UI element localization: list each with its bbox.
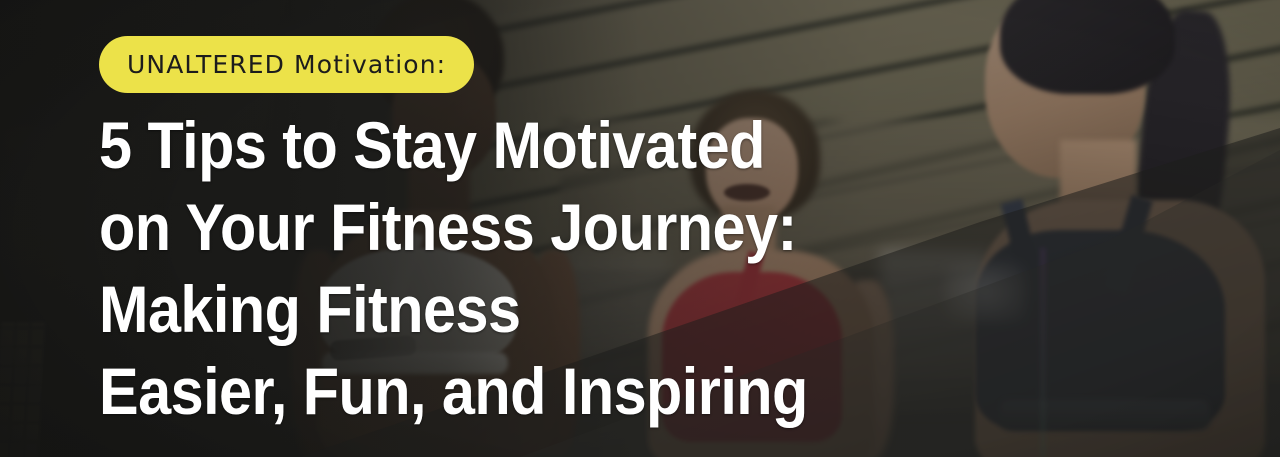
headline-line-4: Easier, Fun, and Inspiring [99, 350, 963, 432]
headline-block: 5 Tips to Stay Motivated on Your Fitness… [99, 104, 1059, 432]
banner-content: UNALTERED Motivation: 5 Tips to Stay Mot… [0, 0, 1280, 457]
motivation-hero-banner: UNALTERED Motivation: 5 Tips to Stay Mot… [0, 0, 1280, 457]
headline-line-2: on Your Fitness Journey: [99, 186, 963, 268]
headline-line-1: 5 Tips to Stay Motivated [99, 104, 963, 186]
headline-line-3: Making Fitness [99, 268, 963, 350]
category-badge: UNALTERED Motivation: [99, 36, 474, 93]
